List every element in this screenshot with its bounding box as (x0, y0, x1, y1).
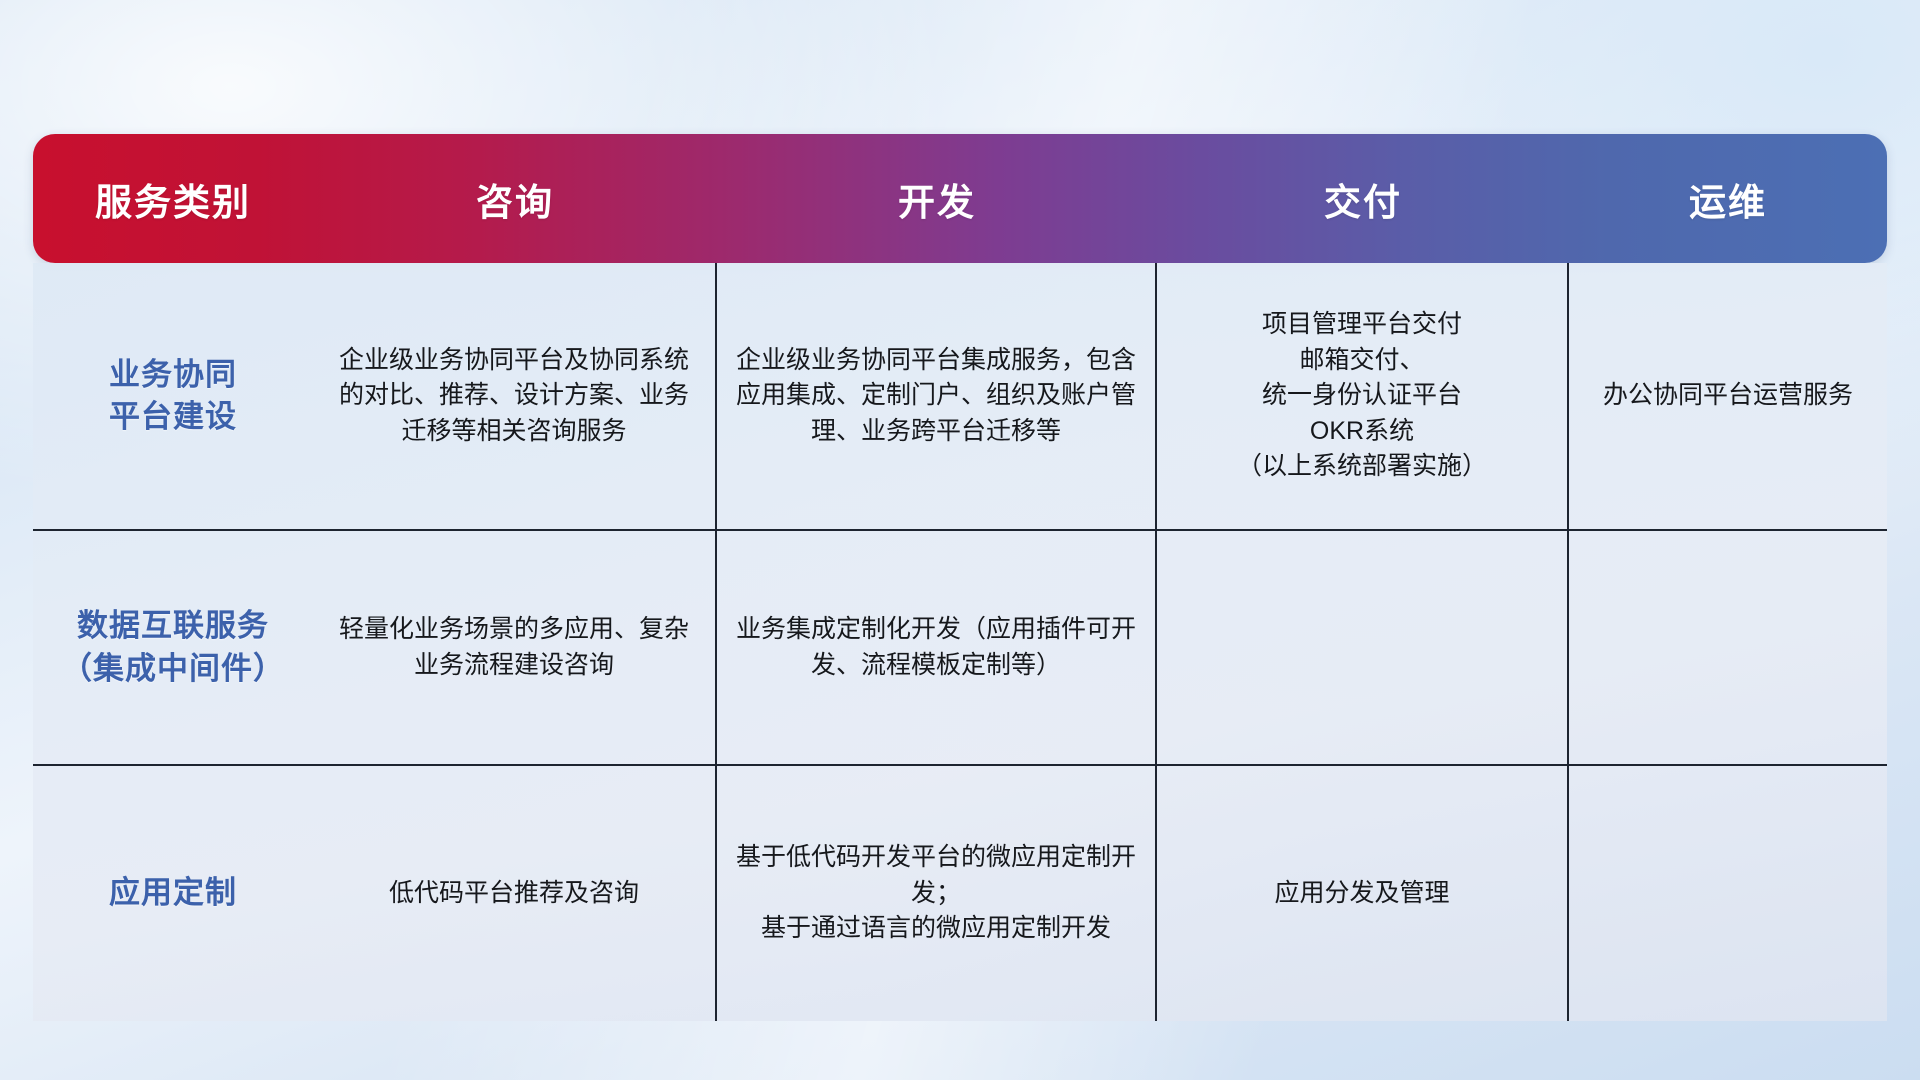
table-row: 业务协同 平台建设 企业级业务协同平台及协同系统的对比、推荐、设计方案、业务迁移… (33, 263, 1887, 531)
table-row: 应用定制 低代码平台推荐及咨询 基于低代码开发平台的微应用定制开发； 基于通过语… (33, 766, 1887, 1021)
cell-consulting: 轻量化业务场景的多应用、复杂业务流程建设咨询 (313, 531, 717, 764)
table-row: 数据互联服务 （集成中间件） 轻量化业务场景的多应用、复杂业务流程建设咨询 业务… (33, 531, 1887, 766)
row-category-label: 业务协同 平台建设 (33, 263, 313, 529)
service-matrix-table: 服务类别 咨询 开发 交付 运维 业务协同 平台建设 企业级业务协同平台及协同系… (33, 134, 1887, 954)
cell-consulting: 低代码平台推荐及咨询 (313, 766, 717, 1021)
cell-consulting: 企业级业务协同平台及协同系统的对比、推荐、设计方案、业务迁移等相关咨询服务 (313, 263, 717, 529)
column-header-delivery: 交付 (1157, 134, 1569, 263)
column-header-development: 开发 (717, 134, 1157, 263)
cell-development: 基于低代码开发平台的微应用定制开发； 基于通过语言的微应用定制开发 (717, 766, 1157, 1021)
cell-development: 业务集成定制化开发（应用插件可开发、流程模板定制等） (717, 531, 1157, 764)
cell-operations (1569, 531, 1887, 764)
slide-canvas: 服务类别 咨询 开发 交付 运维 业务协同 平台建设 企业级业务协同平台及协同系… (0, 0, 1920, 1080)
table-header-row: 服务类别 咨询 开发 交付 运维 (33, 134, 1887, 263)
row-category-label: 数据互联服务 （集成中间件） (33, 531, 313, 764)
cell-delivery (1157, 531, 1569, 764)
table-body: 业务协同 平台建设 企业级业务协同平台及协同系统的对比、推荐、设计方案、业务迁移… (33, 263, 1887, 1021)
cell-delivery: 应用分发及管理 (1157, 766, 1569, 1021)
row-category-label: 应用定制 (33, 766, 313, 1021)
cell-development: 企业级业务协同平台集成服务，包含应用集成、定制门户、组织及账户管理、业务跨平台迁… (717, 263, 1157, 529)
cell-operations (1569, 766, 1887, 1021)
cell-delivery: 项目管理平台交付 邮箱交付、 统一身份认证平台 OKR系统 （以上系统部署实施） (1157, 263, 1569, 529)
cell-operations: 办公协同平台运营服务 (1569, 263, 1887, 529)
column-header-category: 服务类别 (33, 134, 313, 263)
column-header-operations: 运维 (1569, 134, 1887, 263)
column-header-consulting: 咨询 (313, 134, 717, 263)
